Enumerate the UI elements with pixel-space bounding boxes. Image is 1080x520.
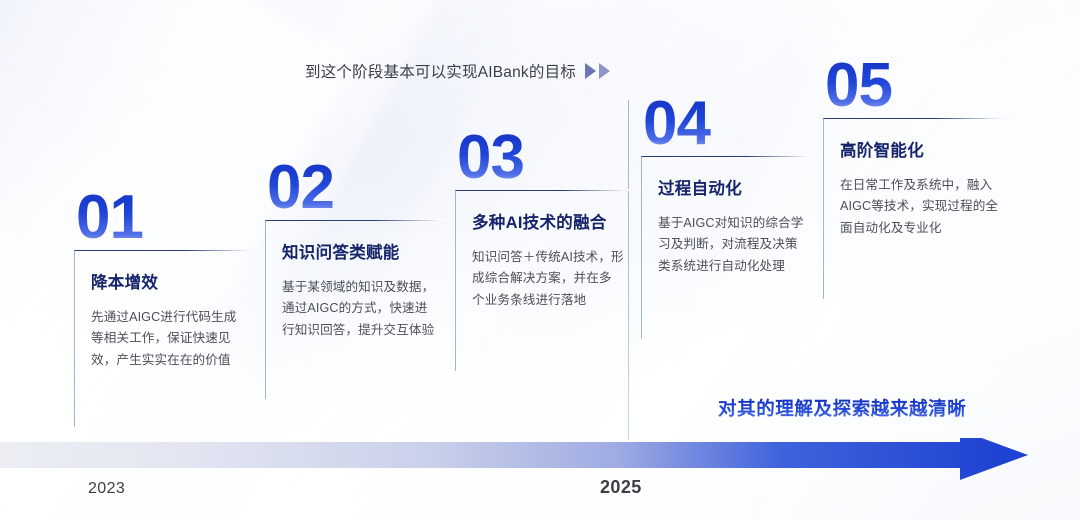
step-title: 高阶智能化 [840, 137, 1000, 161]
step-item-02: 02 知识问答类赋能 基于某领域的知识及数据，通过AIGC的方式，快速进行知识回… [265, 160, 452, 399]
step-card: 降本增效 先通过AIGC进行代码生成等相关工作，保证快速见效，产生实实在在的价值 [74, 250, 263, 427]
step-item-04: 04 过程自动化 基于AIGC对知识的综合学习及判断，对流程及决策类系统进行自动… [641, 96, 820, 339]
step-card: 知识问答类赋能 基于某领域的知识及数据，通过AIGC的方式，快速进行知识回答，提… [265, 220, 452, 399]
step-title: 知识问答类赋能 [282, 239, 438, 263]
step-card: 高阶智能化 在日常工作及系统中，融入AIGC等技术，实现过程的全面自动化及专业化 [823, 118, 1014, 299]
slide-canvas: 到这个阶段基本可以实现AIBank的目标 01 降本增效 先通过AIGC进行代码… [0, 0, 1080, 520]
step-item-03: 03 多种AI技术的融合 知识问答＋传统AI技术，形成综合解决方案，并在多个业务… [455, 130, 638, 371]
timeline-year-start: 2023 [88, 480, 125, 498]
step-title: 多种AI技术的融合 [472, 209, 624, 233]
timeline-arrow [0, 438, 1080, 490]
step-title: 降本增效 [91, 269, 249, 293]
step-number: 05 [825, 58, 1014, 114]
annotation-label: 到这个阶段基本可以实现AIBank的目标 [305, 60, 576, 82]
step-description: 知识问答＋传统AI技术，形成综合解决方案，并在多个业务条线进行落地 [472, 247, 624, 312]
chevron-right-icon [585, 63, 596, 79]
headline-annotation: 到这个阶段基本可以实现AIBank的目标 [305, 60, 610, 82]
step-number: 04 [643, 96, 820, 152]
step-description: 先通过AIGC进行代码生成等相关工作，保证快速见效，产生实实在在的价值 [91, 307, 249, 372]
double-chevron-right-icon [585, 63, 610, 79]
step-description: 基于某领域的知识及数据，通过AIGC的方式，快速进行知识回答，提升交互体验 [282, 277, 438, 342]
step-number: 02 [267, 160, 452, 216]
step-item-01: 01 降本增效 先通过AIGC进行代码生成等相关工作，保证快速见效，产生实实在在… [74, 190, 263, 427]
step-number: 03 [457, 130, 638, 186]
timeline-year-mid: 2025 [600, 477, 642, 498]
summary-tagline: 对其的理解及探索越来越清晰 [718, 395, 966, 421]
step-description: 基于AIGC对知识的综合学习及判断，对流程及决策类系统进行自动化处理 [658, 213, 806, 278]
step-number: 01 [76, 190, 263, 246]
step-card: 过程自动化 基于AIGC对知识的综合学习及判断，对流程及决策类系统进行自动化处理 [641, 156, 820, 339]
step-item-05: 05 高阶智能化 在日常工作及系统中，融入AIGC等技术，实现过程的全面自动化及… [823, 58, 1014, 299]
step-description: 在日常工作及系统中，融入AIGC等技术，实现过程的全面自动化及专业化 [840, 175, 1000, 240]
step-card: 多种AI技术的融合 知识问答＋传统AI技术，形成综合解决方案，并在多个业务条线进… [455, 190, 638, 371]
step-title: 过程自动化 [658, 175, 806, 199]
chevron-right-icon [599, 63, 610, 79]
right-arrow-bar-icon [0, 438, 1080, 490]
